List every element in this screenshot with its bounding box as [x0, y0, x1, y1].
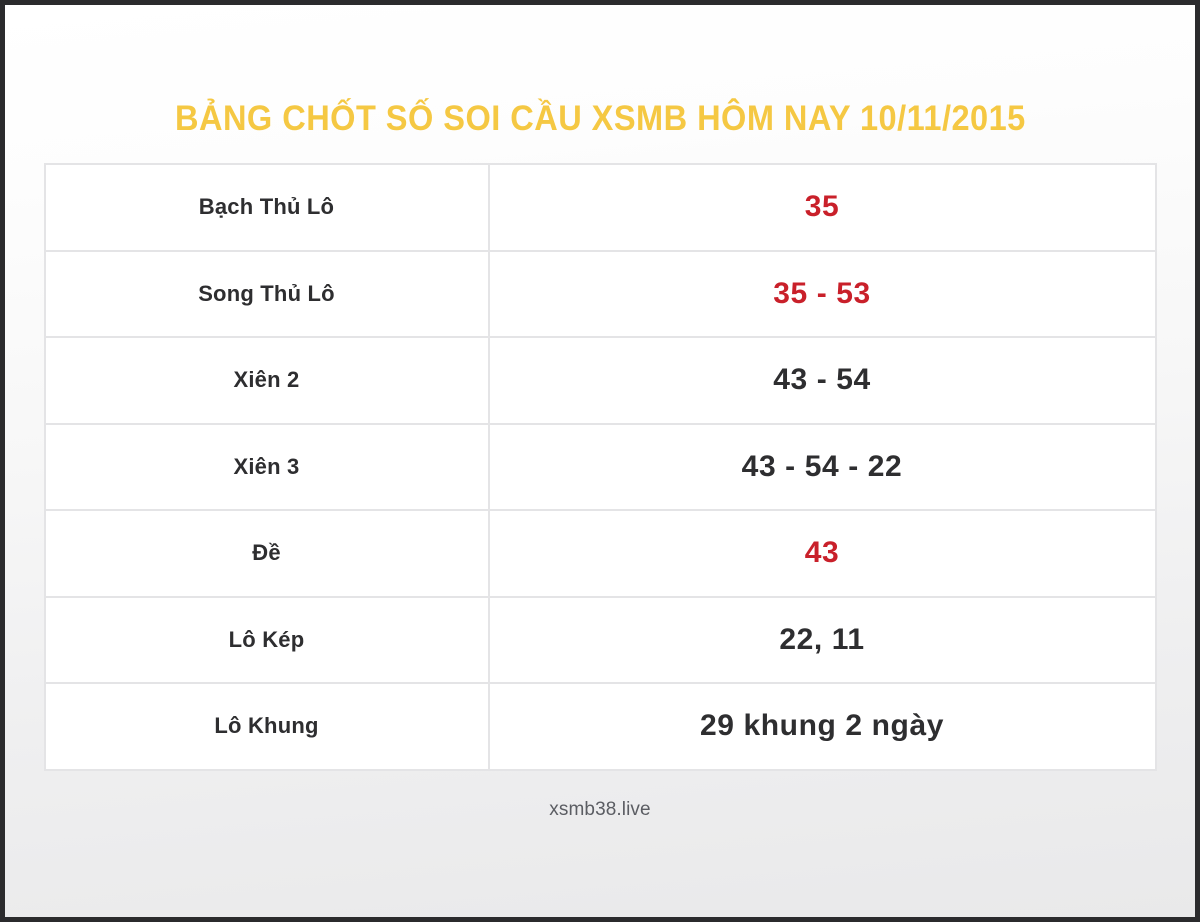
row-label-song-thu-lo: Song Thủ Lô [46, 252, 490, 337]
row-label-xien-2: Xiên 2 [46, 338, 490, 423]
table-row: Xiên 3 43 - 54 - 22 [46, 425, 1155, 512]
row-value-lo-khung: 29 khung 2 ngày [490, 684, 1155, 769]
row-value-bach-thu-lo: 35 [490, 165, 1155, 250]
row-value-de: 43 [490, 511, 1155, 596]
row-label-de: Đề [46, 511, 490, 596]
row-label-lo-khung: Lô Khung [46, 684, 490, 769]
row-value-lo-kep: 22, 11 [490, 598, 1155, 683]
row-value-xien-3: 43 - 54 - 22 [490, 425, 1155, 510]
table-row: Lô Khung 29 khung 2 ngày [46, 684, 1155, 771]
row-value-xien-2: 43 - 54 [490, 338, 1155, 423]
row-label-xien-3: Xiên 3 [46, 425, 490, 510]
page-root: BẢNG CHỐT SỐ SOI CẦU XSMB HÔM NAY 10/11/… [0, 0, 1200, 922]
table-row: Đề 43 [46, 511, 1155, 598]
page-title: BẢNG CHỐT SỐ SOI CẦU XSMB HÔM NAY 10/11/… [175, 101, 1026, 136]
row-value-song-thu-lo: 35 - 53 [490, 252, 1155, 337]
table-row: Song Thủ Lô 35 - 53 [46, 252, 1155, 339]
footer-site-label: xsmb38.live [549, 799, 650, 821]
table-row: Bạch Thủ Lô 35 [46, 165, 1155, 252]
prediction-table: Bạch Thủ Lô 35 Song Thủ Lô 35 - 53 Xiên … [44, 163, 1157, 771]
row-label-bach-thu-lo: Bạch Thủ Lô [46, 165, 490, 250]
table-row: Lô Kép 22, 11 [46, 598, 1155, 685]
row-label-lo-kep: Lô Kép [46, 598, 490, 683]
table-row: Xiên 2 43 - 54 [46, 338, 1155, 425]
